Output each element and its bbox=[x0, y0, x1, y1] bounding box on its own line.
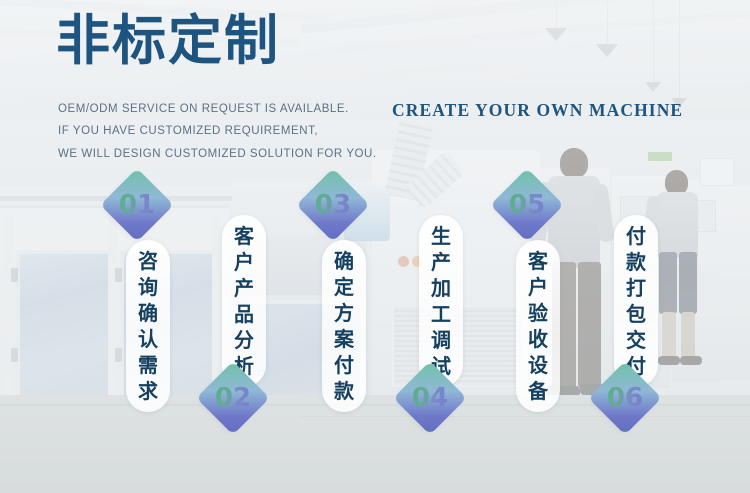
step-label-char: 备 bbox=[528, 378, 548, 404]
step-label-char: 产 bbox=[234, 275, 254, 301]
process-step-06[interactable]: 付款打包交付06 bbox=[588, 150, 684, 450]
step-label-char: 调 bbox=[431, 327, 451, 353]
step-number-badge[interactable]: 02 bbox=[200, 365, 265, 430]
step-label-pill[interactable]: 确定方案付款 bbox=[322, 240, 366, 412]
step-number-badge[interactable]: 05 bbox=[494, 172, 559, 237]
step-label-char: 认 bbox=[138, 326, 158, 352]
step-label-char: 收 bbox=[528, 326, 548, 352]
banner-root: 非标定制 OEM/ODM SERVICE ON REQUEST IS AVAIL… bbox=[0, 0, 750, 493]
step-label-char: 确 bbox=[334, 248, 354, 274]
step-label-char: 款 bbox=[334, 378, 354, 404]
step-number-badge[interactable]: 03 bbox=[300, 172, 365, 237]
process-step-03[interactable]: 03确定方案付款 bbox=[296, 150, 392, 450]
step-label-char: 款 bbox=[626, 249, 646, 275]
process-step-02[interactable]: 客户产品分析02 bbox=[196, 150, 292, 450]
step-number: 01 bbox=[114, 182, 160, 228]
process-steps: 01咨询确认需求客户产品分析0203确定方案付款生产加工调试0405客户验收设备… bbox=[0, 0, 750, 493]
step-number: 05 bbox=[504, 182, 550, 228]
step-label-char: 分 bbox=[234, 327, 254, 353]
step-label-pill[interactable]: 咨询确认需求 bbox=[126, 240, 170, 412]
step-label-char: 工 bbox=[431, 301, 451, 327]
step-number-badge[interactable]: 06 bbox=[592, 365, 657, 430]
step-label-char: 客 bbox=[528, 248, 548, 274]
step-label-char: 付 bbox=[334, 352, 354, 378]
step-label-char: 询 bbox=[138, 274, 158, 300]
step-number: 03 bbox=[310, 182, 356, 228]
step-label-char: 案 bbox=[334, 326, 354, 352]
step-label-char: 付 bbox=[626, 223, 646, 249]
step-label-char: 方 bbox=[334, 300, 354, 326]
step-label-char: 设 bbox=[528, 352, 548, 378]
step-label-char: 咨 bbox=[138, 248, 158, 274]
step-label-char: 打 bbox=[626, 275, 646, 301]
step-number-badge[interactable]: 01 bbox=[104, 172, 169, 237]
step-label-char: 需 bbox=[138, 352, 158, 378]
step-label-char: 验 bbox=[528, 300, 548, 326]
step-label-char: 交 bbox=[626, 327, 646, 353]
step-number: 06 bbox=[602, 375, 648, 421]
step-label-char: 定 bbox=[334, 274, 354, 300]
step-label-char: 产 bbox=[431, 249, 451, 275]
process-step-05[interactable]: 05客户验收设备 bbox=[490, 150, 586, 450]
step-label-pill[interactable]: 生产加工调试 bbox=[419, 215, 463, 387]
step-number: 04 bbox=[407, 375, 453, 421]
step-label-char: 求 bbox=[138, 378, 158, 404]
step-label-pill[interactable]: 付款打包交付 bbox=[614, 215, 658, 387]
step-number-badge[interactable]: 04 bbox=[397, 365, 462, 430]
step-label-char: 确 bbox=[138, 300, 158, 326]
step-label-char: 品 bbox=[234, 301, 254, 327]
step-label-pill[interactable]: 客户验收设备 bbox=[516, 240, 560, 412]
step-number: 02 bbox=[210, 375, 256, 421]
step-label-char: 客 bbox=[234, 223, 254, 249]
step-label-pill[interactable]: 客户产品分析 bbox=[222, 215, 266, 387]
process-step-04[interactable]: 生产加工调试04 bbox=[393, 150, 489, 450]
step-label-char: 包 bbox=[626, 301, 646, 327]
step-label-char: 加 bbox=[431, 275, 451, 301]
process-step-01[interactable]: 01咨询确认需求 bbox=[100, 150, 196, 450]
step-label-char: 生 bbox=[431, 223, 451, 249]
step-label-char: 户 bbox=[528, 274, 548, 300]
step-label-char: 户 bbox=[234, 249, 254, 275]
